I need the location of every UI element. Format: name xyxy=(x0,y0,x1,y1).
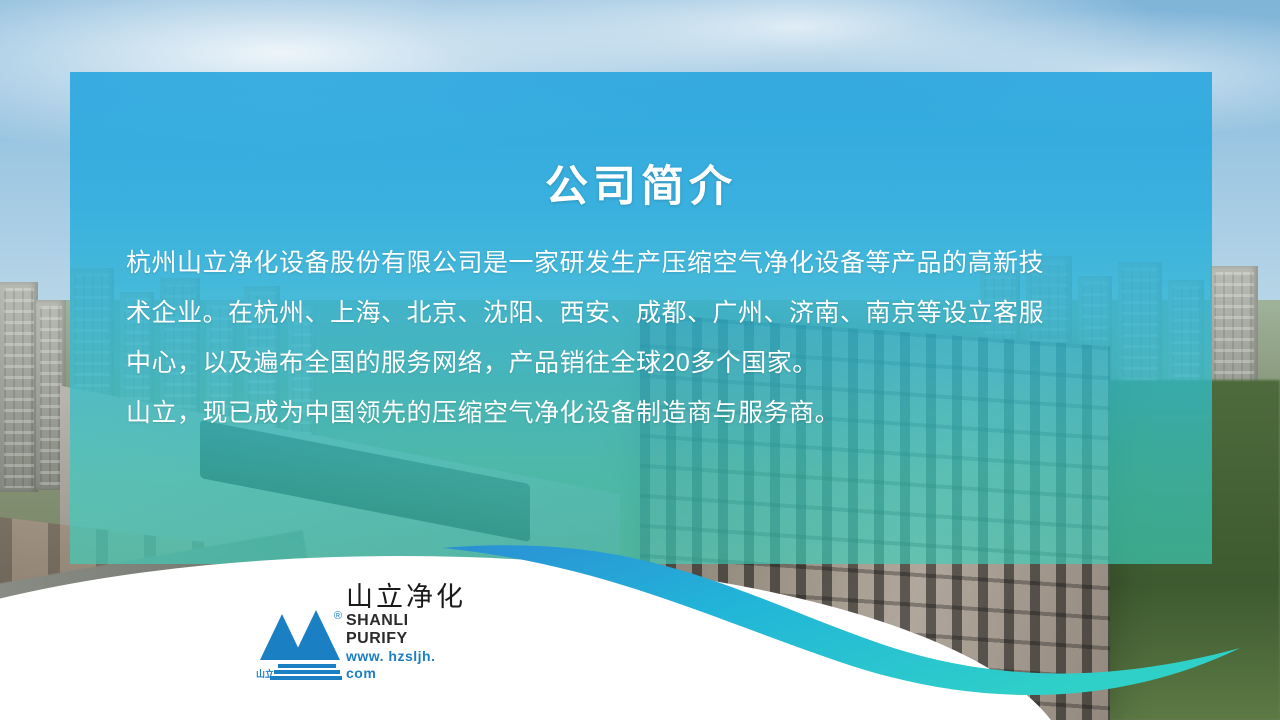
slide-canvas: 公司简介 杭州山立净化设备股份有限公司是一家研发生产压缩空气净化设备等产品的高新… xyxy=(0,0,1280,720)
page-title: 公司简介 xyxy=(70,152,1212,214)
mountain-logo-icon: 山立 ® xyxy=(256,608,342,684)
description-line: 中心，以及遍布全国的服务网络，产品销往全球20多个国家。 xyxy=(126,338,1172,388)
logo-mark-caption: 山立 xyxy=(256,667,274,680)
registered-trademark-icon: ® xyxy=(334,610,342,622)
skyline-building xyxy=(0,282,38,492)
logo-wordmark: 山立净化 SHANLI PURIFY www. hzsljh. com xyxy=(346,582,466,684)
content-overlay-panel: 公司简介 杭州山立净化设备股份有限公司是一家研发生产压缩空气净化设备等产品的高新… xyxy=(70,72,1212,564)
logo-company-name-cn: 山立净化 xyxy=(346,582,466,612)
company-description: 杭州山立净化设备股份有限公司是一家研发生产压缩空气净化设备等产品的高新技 术企业… xyxy=(126,238,1172,438)
company-logo: 山立 ® 山立净化 SHANLI PURIFY www. hzsljh. com xyxy=(256,604,466,684)
description-line: 术企业。在杭州、上海、北京、沈阳、西安、成都、广州、济南、南京等设立客服 xyxy=(126,288,1172,338)
description-line: 杭州山立净化设备股份有限公司是一家研发生产压缩空气净化设备等产品的高新技 xyxy=(126,238,1172,288)
logo-company-name-en: SHANLI PURIFY xyxy=(346,612,466,648)
logo-website-url[interactable]: www. hzsljh. com xyxy=(346,648,466,682)
description-line: 山立，现已成为中国领先的压缩空气净化设备制造商与服务商。 xyxy=(126,388,1172,438)
